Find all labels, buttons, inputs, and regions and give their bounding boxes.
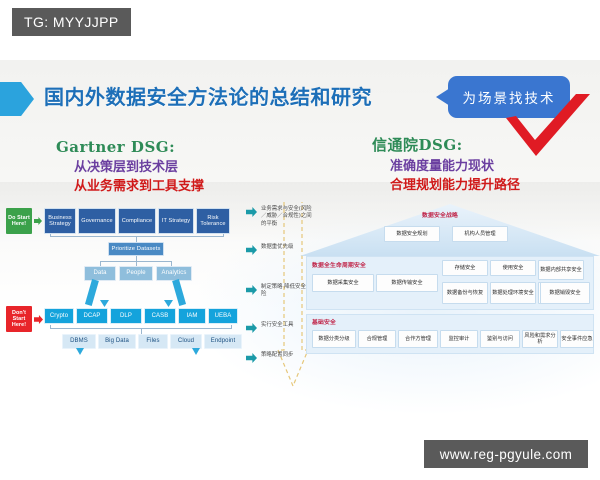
red-arrow-icon <box>34 315 43 324</box>
teal-arrow-icon <box>246 285 257 295</box>
gartner-box-files: Files <box>138 334 168 349</box>
model-box-collect: 数据采集安全 <box>312 274 374 292</box>
tier-strategy-label: 数据安全战略 <box>422 210 458 219</box>
gartner-box-big-data: Big Data <box>98 334 136 349</box>
heading-caict: 信通院DSG: 准确度量能力现状 合理规划能力提升路径 <box>372 134 520 193</box>
gartner-box-risk-tolerance: Risk Tolerance <box>196 208 230 234</box>
gartner-box-endpoint: Endpoint <box>204 334 242 349</box>
do-start-here-badge: Do Start Here! <box>6 208 32 234</box>
heading-gartner-title: Gartner DSG: <box>56 138 204 156</box>
gartner-box-business-strategy: Business Strategy <box>44 208 76 234</box>
gartner-box-people: People <box>119 266 153 281</box>
teal-arrow-icon <box>246 353 257 363</box>
model-box-partner-mgmt: 合作方管理 <box>398 330 438 348</box>
model-box-incident-response: 安全事件应急 <box>560 330 594 348</box>
gartner-box-ueba: UEBA <box>208 308 238 324</box>
page-title: 国内外数据安全方法论的总结和研究 <box>44 81 372 110</box>
model-box-processing-env: 数据处理环境安全 <box>490 282 536 304</box>
gartner-box-it-strategy: IT Strategy <box>158 208 194 234</box>
model-box-risk-demand: 风险和需求分析 <box>522 330 558 348</box>
watermark-top: TG: MYYJJPP <box>12 8 131 36</box>
model-box-storage: 存储安全 <box>442 260 488 276</box>
green-arrow-icon <box>34 217 42 225</box>
model-box-usage: 使用安全 <box>490 260 536 276</box>
teal-arrow-icon <box>246 245 257 255</box>
gartner-box-prioritize-datasets: Prioritize Datasets <box>108 242 164 256</box>
gartner-box-cloud: Cloud <box>170 334 202 349</box>
model-box-internal-share: 数据内部共享安全 <box>538 260 584 280</box>
heading-caict-line3: 合理规划能力提升路径 <box>372 174 520 193</box>
heading-caict-title: 信通院DSG: <box>372 134 520 155</box>
gartner-box-analytics: Analytics <box>156 266 192 281</box>
dont-start-here-badge: Don't Start Here! <box>6 306 32 332</box>
heading-caict-line2: 准确度量能力现状 <box>372 155 520 174</box>
gartner-box-dlp: DLP <box>110 308 142 324</box>
tier-basic-label: 基础安全 <box>312 317 336 326</box>
gartner-box-governance: Governance <box>78 208 116 234</box>
model-box-monitor-audit: 监控审计 <box>440 330 478 348</box>
watermark-bottom: www.reg-pgyule.com <box>424 440 588 468</box>
heading-gartner-line2: 从决策层到技术层 <box>56 156 204 175</box>
model-box-security-planning: 数据安全规划 <box>384 226 440 242</box>
heading-gartner: Gartner DSG: 从决策层到技术层 从业务需求到工具支撑 <box>56 138 204 194</box>
gartner-box-casb: CASB <box>144 308 176 324</box>
gartner-box-dbms: DBMS <box>62 334 96 349</box>
gartner-dsg-diagram: Do Start Here! Business Strategy Governa… <box>0 200 250 375</box>
model-box-auth-access: 鉴别与访问 <box>480 330 520 348</box>
model-box-classification: 数据分类分级 <box>312 330 356 348</box>
gartner-box-dcap: DCAP <box>76 308 108 324</box>
gartner-box-compliance: Compliance <box>118 208 156 234</box>
heading-gartner-line3: 从业务需求到工具支撑 <box>56 175 204 194</box>
model-box-transmit: 数据传输安全 <box>376 274 438 292</box>
teal-arrow-icon <box>246 207 257 217</box>
teal-arrow-icon <box>246 323 257 333</box>
model-box-org-personnel: 机构人员管理 <box>452 226 508 242</box>
model-box-backup-restore: 数据备份与恢复 <box>442 282 488 304</box>
gartner-box-data: Data <box>84 266 116 281</box>
model-box-compliance-mgmt: 合规管理 <box>358 330 396 348</box>
gartner-box-crypto: Crypto <box>44 308 74 324</box>
title-arrow-icon <box>0 82 34 116</box>
model-box-destroy: 数据销毁安全 <box>540 282 590 304</box>
tier-lifecycle-label: 数据全生命周期安全 <box>312 260 366 269</box>
gartner-box-iam: IAM <box>178 308 206 324</box>
